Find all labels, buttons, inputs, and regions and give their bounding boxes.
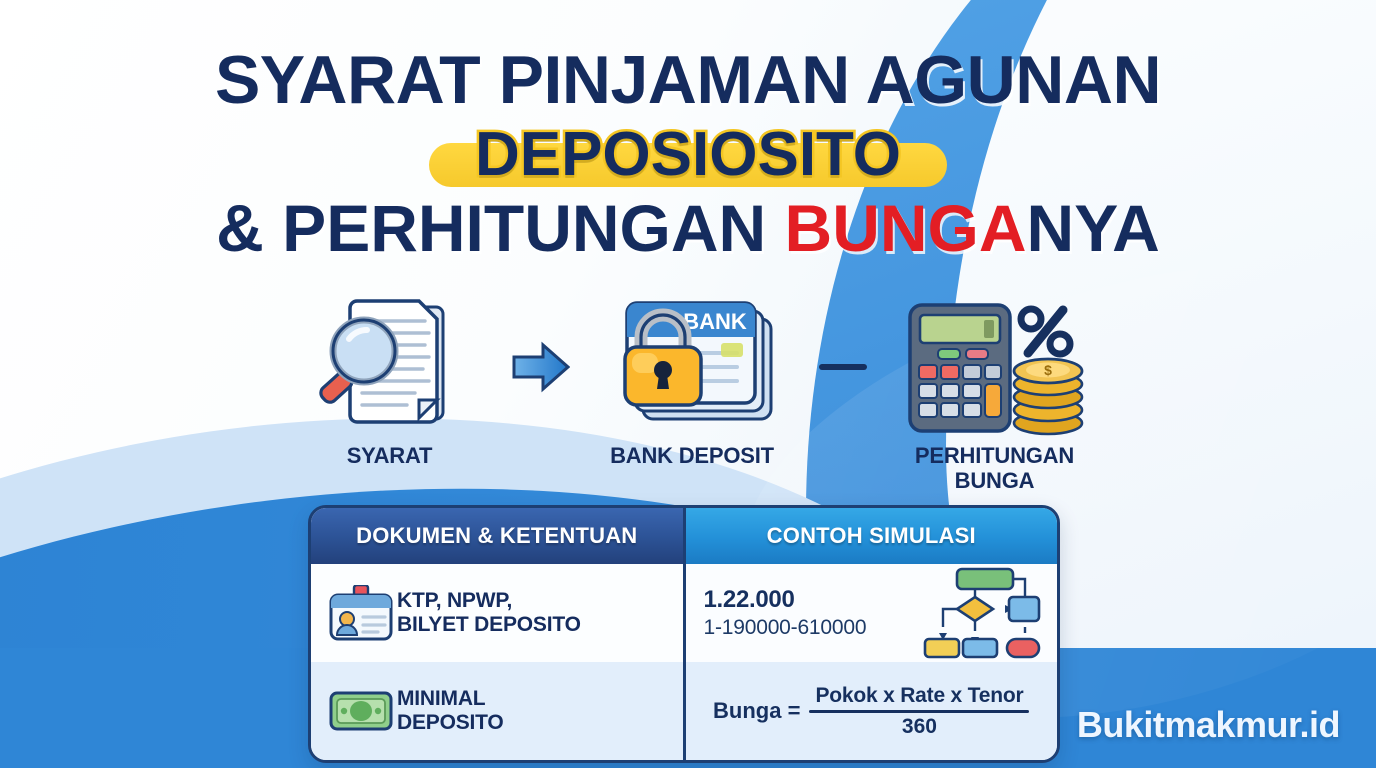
banknote-icon (328, 689, 394, 733)
headline-highlight-wrap: DEPOSIOSITO (429, 121, 947, 189)
connector-arrow (512, 292, 570, 442)
step-syarat: SYARAT (282, 292, 497, 469)
table-header-simulasi: CONTOH SIMULASI (686, 508, 1058, 564)
simulation-range: 1-190000-610000 (704, 616, 912, 640)
table-row-minimal-deposito: MINIMALDEPOSITO (311, 662, 683, 760)
table-cell-ktp-text: KTP, NPWP,BILYET DEPOSITO (397, 589, 581, 638)
banknote-art (325, 689, 397, 733)
table-row-ktp: KTP, NPWP,BILYET DEPOSITO (311, 564, 683, 662)
bank-card-lock-art: BANK (585, 292, 800, 442)
step-perhitungan-bunga: $ PERHITUNGAN BUNGA (887, 292, 1102, 493)
formula-fraction: Pokok x Rate x Tenor 360 (809, 684, 1029, 739)
bank-card-text: BANK (683, 309, 747, 334)
infographic-canvas: SYARAT PINJAMAN AGUNAN DEPOSIOSITO & PER… (0, 0, 1376, 768)
step-label-perhitungan-bunga: PERHITUNGAN BUNGA (887, 444, 1102, 493)
step-bank-deposit: BANK B (585, 292, 800, 469)
dash-icon (817, 357, 869, 377)
headline-line-2: DEPOSIOSITO (475, 121, 901, 189)
formula-lhs: Bunga = (713, 698, 800, 724)
table-column-dokumen: KTP, NPWP,BILYET DEPOSITO MINIMALDEPOSIT… (311, 564, 686, 760)
connector-dash (814, 292, 872, 442)
document-magnifier-art (282, 292, 497, 442)
formula-numerator: Pokok x Rate x Tenor (809, 684, 1029, 710)
calculator-coins-percent-icon: $ (900, 297, 1090, 437)
document-magnifier-icon (315, 297, 465, 437)
headline-line-3-red: BUNGA (785, 191, 1027, 265)
interest-formula: Bunga = Pokok x Rate x Tenor 360 (700, 684, 1044, 739)
svg-text:$: $ (1044, 362, 1052, 378)
table-body: KTP, NPWP,BILYET DEPOSITO MINIMALDEPOSIT… (311, 564, 1057, 760)
headline-line-3: & PERHITUNGAN BUNGANYA (0, 194, 1376, 263)
percent-glyph (1021, 309, 1070, 354)
table-column-simulasi: 1.22.000 1-190000-610000 (686, 564, 1058, 760)
simulation-amount: 1.22.000 (704, 586, 912, 614)
arrow-right-icon (512, 341, 570, 393)
formula-denominator: 360 (902, 713, 937, 739)
coin-stack: $ (1014, 359, 1082, 434)
table-cell-minimal-text: MINIMALDEPOSITO (397, 687, 504, 736)
table-row-simulasi-angka: 1.22.000 1-190000-610000 (686, 564, 1058, 662)
headline-line-3-suffix: NYA (1027, 191, 1160, 265)
calculator-coins-art: $ (887, 292, 1102, 442)
table-row-simulasi-rumus: Bunga = Pokok x Rate x Tenor 360 (686, 662, 1058, 760)
bank-card-lock-icon: BANK (605, 297, 780, 437)
simulation-values: 1.22.000 1-190000-610000 (700, 586, 912, 640)
flowchart-icon (913, 565, 1041, 661)
headline-line-3-prefix: & PERHITUNGAN (216, 191, 784, 265)
id-card-art (325, 585, 397, 641)
step-label-bank-deposit: BANK DEPOSIT (585, 444, 800, 469)
id-card-icon (328, 585, 394, 641)
flowchart-art (911, 565, 1043, 661)
process-step-row: SYARAT BANK (282, 292, 1102, 492)
headline-line-1: SYARAT PINJAMAN AGUNAN (0, 46, 1376, 115)
table-header-row: DOKUMEN & KETENTUAN CONTOH SIMULASI (311, 508, 1057, 564)
step-label-syarat: SYARAT (282, 444, 497, 469)
table-header-dokumen: DOKUMEN & KETENTUAN (311, 508, 686, 564)
site-watermark: Bukitmakmur.id (1077, 704, 1340, 746)
headline-group: SYARAT PINJAMAN AGUNAN DEPOSIOSITO & PER… (0, 46, 1376, 262)
requirements-table: DOKUMEN & KETENTUAN CONTOH SIMULASI (308, 505, 1060, 763)
